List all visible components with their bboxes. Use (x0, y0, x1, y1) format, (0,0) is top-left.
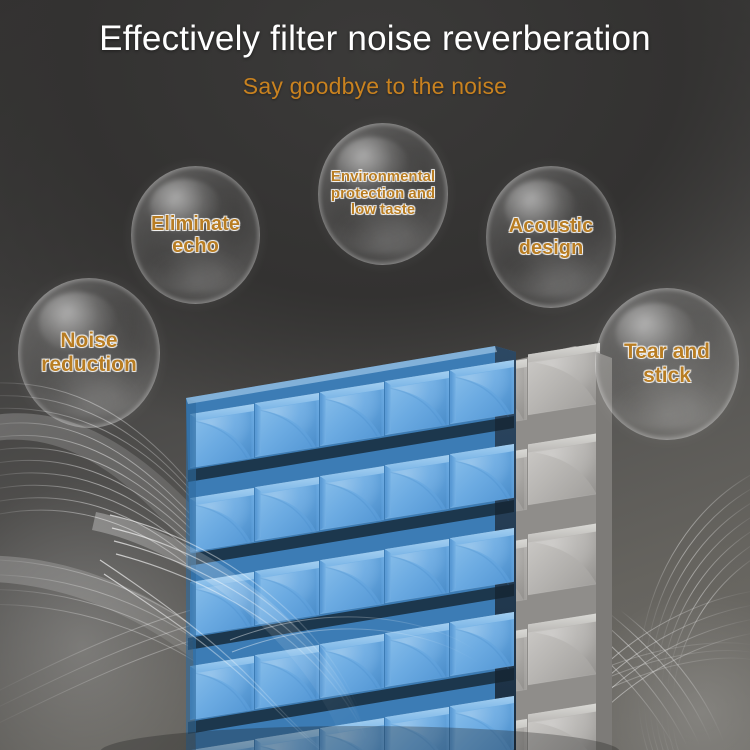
page-subtitle: Say goodbye to the noise (0, 74, 750, 99)
promo-banner: Effectively filter noise reverberation S… (0, 0, 750, 750)
page-title: Effectively filter noise reverberation (0, 20, 750, 59)
feature-bubble-label: Environmentalprotection andlow taste (325, 169, 441, 219)
feature-bubble-label: Eliminateecho (145, 213, 246, 258)
feature-bubble-tear-and-stick[interactable]: Tear andstick (595, 288, 739, 440)
gray-foam-panel (440, 343, 612, 750)
feature-bubble-label: Acousticdesign (503, 215, 599, 260)
blue-foam-panel (186, 346, 516, 750)
feature-bubble-label: Noisereduction (35, 329, 143, 376)
feature-bubble-environmental-protection[interactable]: Environmentalprotection andlow taste (318, 123, 448, 265)
feature-bubble-acoustic-design[interactable]: Acousticdesign (486, 166, 616, 308)
feature-bubble-eliminate-echo[interactable]: Eliminateecho (131, 166, 260, 304)
feature-bubble-noise-reduction[interactable]: Noisereduction (18, 278, 160, 428)
feature-bubble-label: Tear andstick (618, 340, 716, 387)
